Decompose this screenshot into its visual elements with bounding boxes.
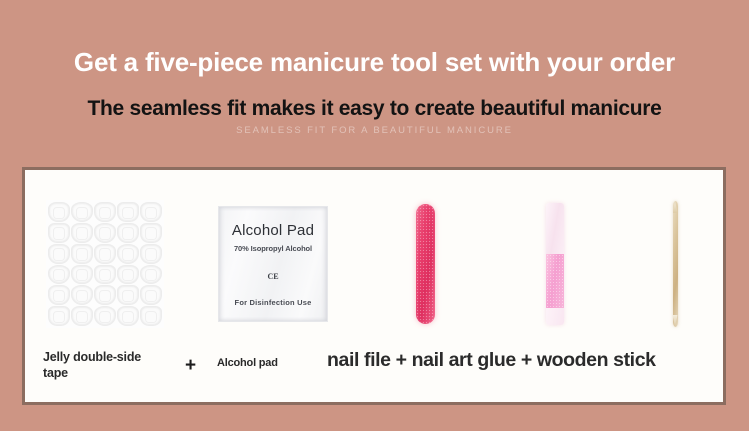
caption-alcohol-pad: Alcohol pad bbox=[217, 357, 337, 371]
caption-jelly-tape: Jelly double-side tape bbox=[43, 350, 167, 381]
tape-tab bbox=[140, 244, 162, 264]
tape-tab bbox=[94, 223, 116, 243]
product-strip: Alcohol Pad 70% Isopropyl Alcohol CE For… bbox=[25, 170, 723, 402]
tape-tab bbox=[140, 202, 162, 222]
tape-tab bbox=[48, 244, 70, 264]
nail-file-icon bbox=[416, 204, 435, 324]
caption-row: Jelly double-side tape + Alcohol pad nai… bbox=[25, 348, 723, 400]
product-card: Alcohol Pad 70% Isopropyl Alcohol CE For… bbox=[22, 167, 726, 405]
ce-mark-icon: CE bbox=[267, 273, 278, 281]
tape-tab bbox=[117, 285, 139, 305]
tape-tab bbox=[140, 223, 162, 243]
tape-tab bbox=[140, 306, 162, 326]
tape-tab bbox=[48, 202, 70, 222]
glue-body bbox=[546, 254, 564, 308]
promo-banner: Get a five-piece manicure tool set with … bbox=[0, 0, 749, 431]
tape-tab bbox=[117, 202, 139, 222]
tape-tab bbox=[71, 202, 93, 222]
tape-tab bbox=[48, 265, 70, 285]
tape-tab bbox=[48, 285, 70, 305]
tape-tab bbox=[71, 285, 93, 305]
wooden-cuticle-stick-icon bbox=[673, 201, 678, 327]
tape-tab bbox=[94, 265, 116, 285]
plus-separator-icon: + bbox=[185, 354, 196, 378]
tape-tab bbox=[94, 285, 116, 305]
glue-cap bbox=[546, 203, 564, 254]
tape-tab bbox=[117, 306, 139, 326]
product-slot-alcohol-pad: Alcohol Pad 70% Isopropyl Alcohol CE For… bbox=[193, 184, 353, 344]
nail-art-glue-tube-icon bbox=[546, 203, 564, 325]
tape-tab bbox=[71, 244, 93, 264]
tape-tab bbox=[94, 306, 116, 326]
tape-tab bbox=[117, 244, 139, 264]
headline-primary: Get a five-piece manicure tool set with … bbox=[0, 0, 749, 77]
tape-tab bbox=[94, 202, 116, 222]
caption-remaining-tools: nail file + nail art glue + wooden stick bbox=[327, 348, 719, 372]
product-slot-jelly-tape bbox=[35, 184, 175, 344]
tape-tab bbox=[94, 244, 116, 264]
product-slot-nail-art-glue bbox=[495, 184, 615, 344]
tape-tab bbox=[48, 223, 70, 243]
tape-tab bbox=[117, 265, 139, 285]
tape-tab bbox=[48, 306, 70, 326]
headline-secondary: The seamless fit makes it easy to create… bbox=[0, 77, 749, 120]
tape-tab bbox=[71, 265, 93, 285]
alcohol-pad-sachet-icon: Alcohol Pad 70% Isopropyl Alcohol CE For… bbox=[218, 206, 328, 322]
headline-ghost-subtitle: SEAMLESS FIT FOR A BEAUTIFUL MANICURE bbox=[0, 120, 749, 136]
tape-tab bbox=[71, 223, 93, 243]
jelly-tape-sheet-icon bbox=[46, 200, 164, 328]
product-slot-nail-file bbox=[365, 184, 485, 344]
product-slot-wooden-stick bbox=[625, 184, 725, 344]
tape-tab bbox=[140, 285, 162, 305]
alcohol-pad-title: Alcohol Pad bbox=[232, 223, 314, 238]
tape-tab bbox=[117, 223, 139, 243]
glue-foot bbox=[546, 308, 564, 325]
tape-tab bbox=[71, 306, 93, 326]
headline-block: Get a five-piece manicure tool set with … bbox=[0, 0, 749, 135]
alcohol-pad-usage: For Disinfection Use bbox=[235, 299, 312, 307]
alcohol-pad-subtitle: 70% Isopropyl Alcohol bbox=[234, 245, 312, 253]
tape-tab bbox=[140, 265, 162, 285]
